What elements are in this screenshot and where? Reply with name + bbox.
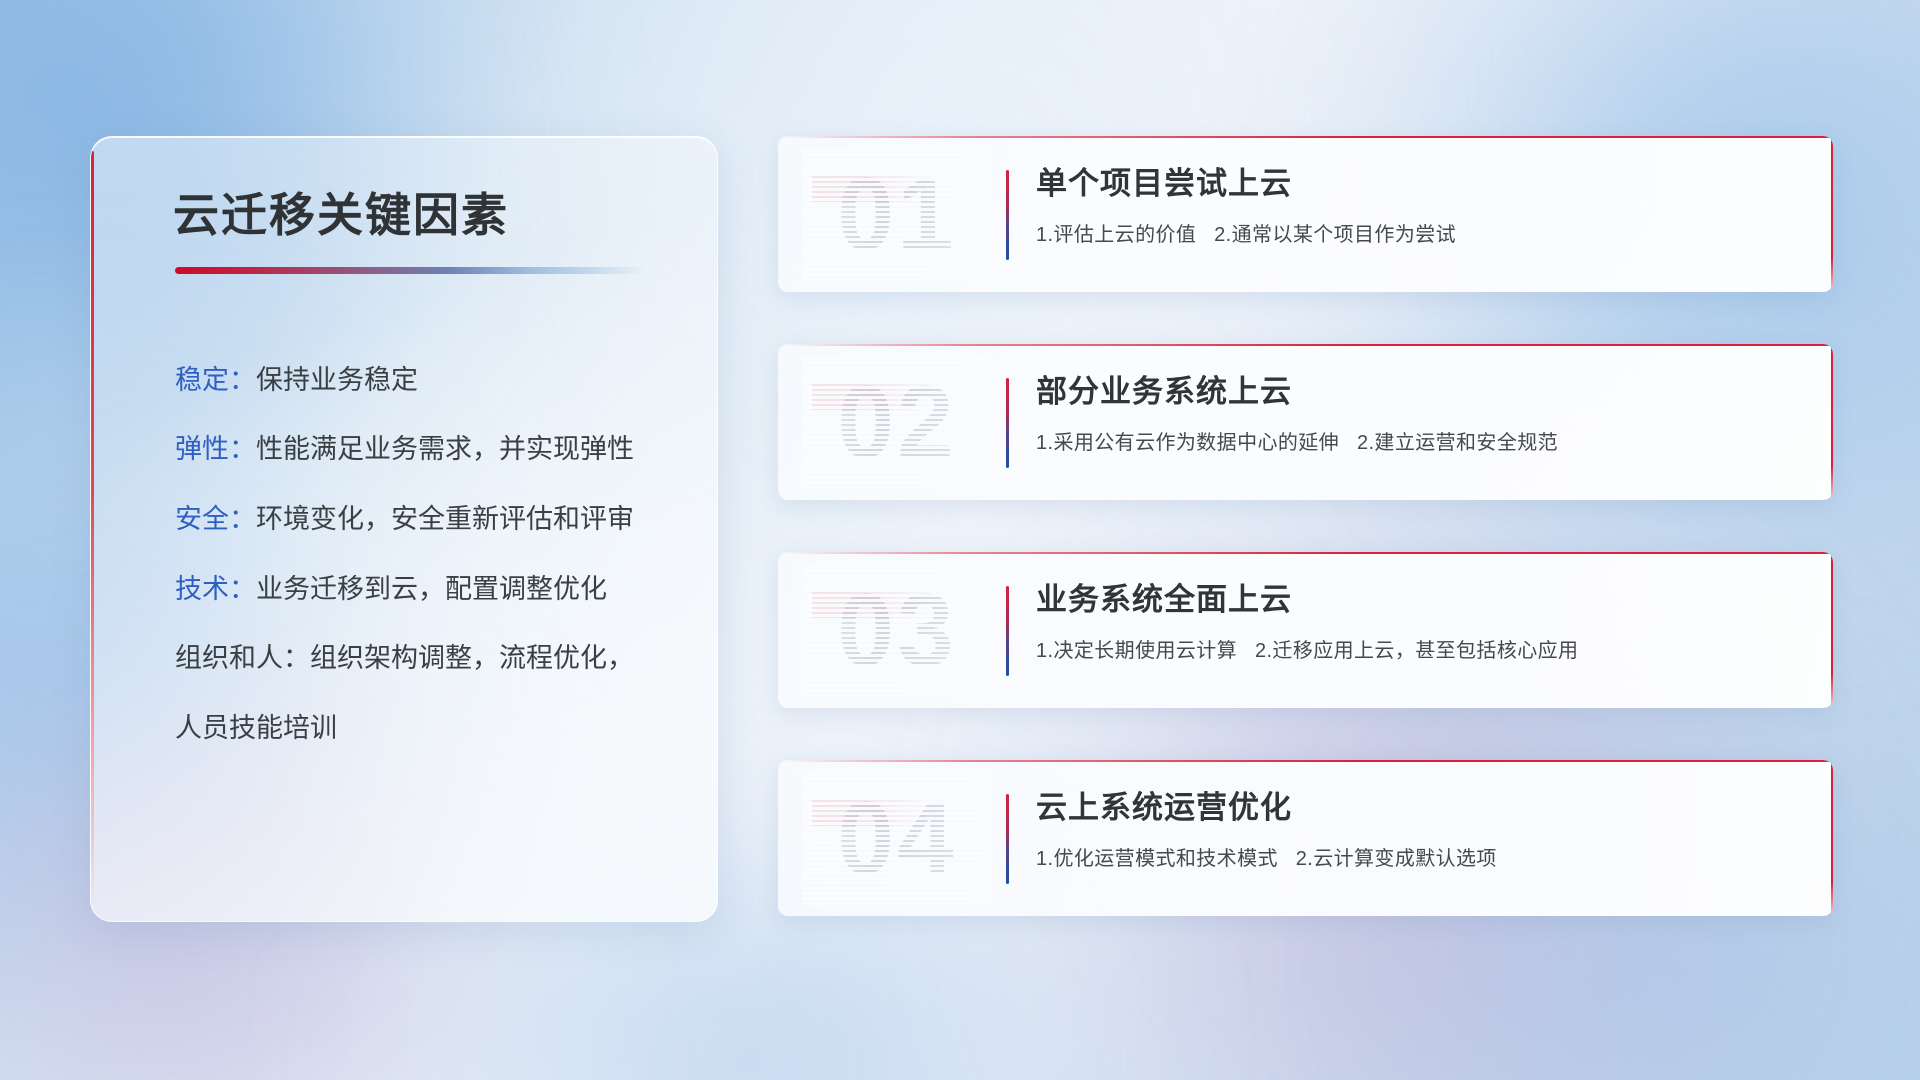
page-title: 云迁移关键因素 (155, 187, 661, 245)
list-item-text: 组织架构调整，流程优化， (310, 643, 634, 673)
stage-card-description: 1.评估上云的价值 2.通常以某个项目作为尝试 (1036, 218, 1803, 247)
key-factors-list: 稳定：保持业务稳定 弹性：性能满足业务需求，并实现弹性 安全：环境变化，安全重新… (155, 362, 661, 747)
key-factors-panel-inner: 云迁移关键因素 稳定：保持业务稳定 弹性：性能满足业务需求，并实现弹性 安全：环… (91, 137, 717, 747)
stage-card-description: 1.优化运营模式和技术模式 2.云计算变成默认选项 (1036, 842, 1803, 871)
list-item-key: 稳定： (175, 365, 256, 395)
stage-accent-bar (1006, 170, 1009, 260)
stage-number-graphic: 02 (802, 354, 992, 490)
list-item-key: 安全： (175, 504, 256, 534)
stage-card-description: 1.采用公有云作为数据中心的延伸 2.建立运营和安全规范 (1036, 426, 1803, 455)
stage-accent-bar (1006, 378, 1009, 468)
list-item-text: 人员技能培训 (175, 713, 337, 743)
stage-number-graphic: 03 (802, 562, 992, 698)
list-item: 组织和人：组织架构调整，流程优化， (175, 640, 661, 677)
list-item-key: 弹性： (175, 434, 256, 464)
stage-number-graphic: 04 (802, 770, 992, 906)
stage-card[interactable]: 01 单个项目尝试上云 1.评估上云的价值 2.通常以某个项目作为尝试 (778, 136, 1833, 292)
key-factors-panel: 云迁移关键因素 稳定：保持业务稳定 弹性：性能满足业务需求，并实现弹性 安全：环… (90, 136, 718, 922)
stage-card-body: 部分业务系统上云 1.采用公有云作为数据中心的延伸 2.建立运营和安全规范 (1036, 372, 1803, 455)
stage-accent-bar (1006, 794, 1009, 884)
list-item-key: 技术： (175, 574, 256, 604)
stage-number-text: 01 (802, 146, 992, 282)
list-item-key: 组织和人： (175, 643, 310, 673)
stage-number-graphic: 01 (802, 146, 992, 282)
stage-number-text: 03 (802, 562, 992, 698)
list-item-text: 保持业务稳定 (256, 365, 418, 395)
list-item: 稳定：保持业务稳定 (175, 362, 661, 399)
list-item-text: 业务迁移到云，配置调整优化 (256, 574, 607, 604)
title-underline-rule (175, 267, 645, 274)
list-item: 弹性：性能满足业务需求，并实现弹性 (175, 431, 661, 468)
stage-card-title: 单个项目尝试上云 (1036, 164, 1803, 204)
stage-card-body: 业务系统全面上云 1.决定长期使用云计算 2.迁移应用上云，甚至包括核心应用 (1036, 580, 1803, 663)
stage-card-title: 业务系统全面上云 (1036, 580, 1803, 620)
list-item: 安全：环境变化，安全重新评估和评审 (175, 501, 661, 538)
stage-card[interactable]: 03 业务系统全面上云 1.决定长期使用云计算 2.迁移应用上云，甚至包括核心应… (778, 552, 1833, 708)
list-item-text: 环境变化，安全重新评估和评审 (256, 504, 634, 534)
slide-stage: 云迁移关键因素 稳定：保持业务稳定 弹性：性能满足业务需求，并实现弹性 安全：环… (0, 0, 1920, 1080)
stage-number-text: 04 (802, 770, 992, 906)
stages-card-list: 01 单个项目尝试上云 1.评估上云的价值 2.通常以某个项目作为尝试 02 部… (778, 136, 1833, 968)
stage-card[interactable]: 02 部分业务系统上云 1.采用公有云作为数据中心的延伸 2.建立运营和安全规范 (778, 344, 1833, 500)
list-item-continuation: 人员技能培训 (175, 710, 661, 747)
stage-accent-bar (1006, 586, 1009, 676)
stage-card[interactable]: 04 云上系统运营优化 1.优化运营模式和技术模式 2.云计算变成默认选项 (778, 760, 1833, 916)
stage-card-title: 云上系统运营优化 (1036, 788, 1803, 828)
stage-card-description: 1.决定长期使用云计算 2.迁移应用上云，甚至包括核心应用 (1036, 634, 1803, 663)
list-item-text: 性能满足业务需求，并实现弹性 (256, 434, 634, 464)
stage-card-body: 云上系统运营优化 1.优化运营模式和技术模式 2.云计算变成默认选项 (1036, 788, 1803, 871)
stage-card-body: 单个项目尝试上云 1.评估上云的价值 2.通常以某个项目作为尝试 (1036, 164, 1803, 247)
stage-card-title: 部分业务系统上云 (1036, 372, 1803, 412)
list-item: 技术：业务迁移到云，配置调整优化 (175, 571, 661, 608)
stage-number-text: 02 (802, 354, 992, 490)
